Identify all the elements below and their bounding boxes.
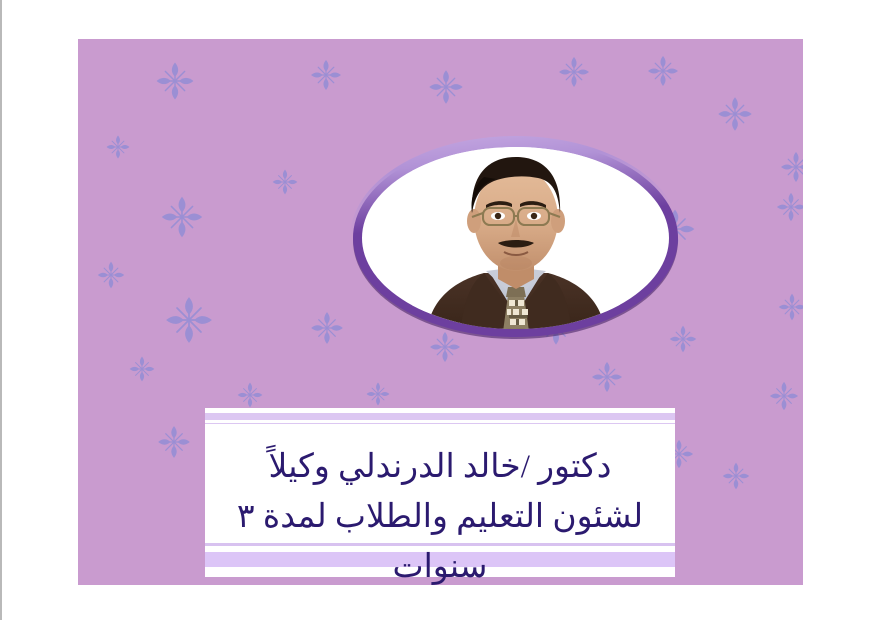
caption-text: دكتور /خالد الدرندلي وكيلاً لشئون التعلي… bbox=[183, 442, 697, 585]
flower-icon bbox=[128, 355, 156, 383]
flower-icon bbox=[365, 381, 391, 407]
portrait-photo-clip bbox=[362, 147, 669, 329]
flower-icon bbox=[716, 95, 754, 133]
flower-icon bbox=[557, 55, 591, 89]
left-edge-rule bbox=[0, 0, 2, 620]
flower-icon bbox=[96, 260, 126, 290]
flower-icon bbox=[768, 380, 800, 412]
flower-icon bbox=[309, 310, 345, 346]
flower-icon bbox=[159, 194, 205, 240]
portrait-oval-frame bbox=[353, 139, 678, 337]
flower-icon bbox=[427, 68, 465, 106]
portrait-photo bbox=[412, 147, 620, 329]
flower-icon bbox=[668, 324, 698, 354]
flower-icon bbox=[236, 381, 264, 409]
caption-top-band-highlight bbox=[205, 420, 675, 423]
flower-icon bbox=[777, 292, 803, 322]
flower-icon bbox=[163, 294, 215, 346]
flower-icon bbox=[779, 150, 803, 184]
flower-icon bbox=[105, 134, 131, 160]
flower-icon bbox=[428, 330, 462, 364]
flower-icon bbox=[154, 60, 196, 102]
flower-icon bbox=[721, 461, 751, 491]
flower-icon bbox=[309, 58, 343, 92]
flower-icon bbox=[590, 360, 624, 394]
flower-icon bbox=[775, 191, 803, 223]
flower-icon bbox=[646, 54, 680, 88]
slide-viewer: دكتور /خالد الدرندلي وكيلاً لشئون التعلي… bbox=[0, 0, 877, 620]
presentation-slide: دكتور /خالد الدرندلي وكيلاً لشئون التعلي… bbox=[78, 39, 803, 585]
flower-icon bbox=[271, 168, 299, 196]
caption-text-box: دكتور /خالد الدرندلي وكيلاً لشئون التعلي… bbox=[205, 408, 675, 577]
